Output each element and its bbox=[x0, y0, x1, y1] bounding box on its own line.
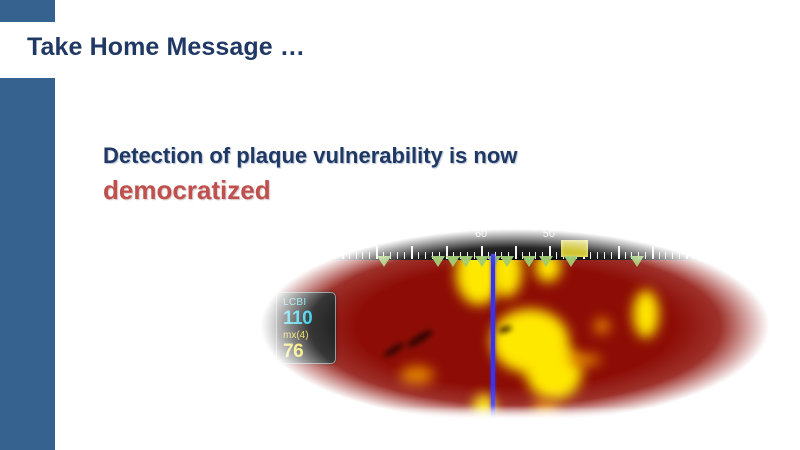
ruler-selection-highlight[interactable] bbox=[561, 240, 588, 257]
block-chemogram-marker bbox=[744, 256, 758, 267]
ruler-label: 50 bbox=[543, 228, 555, 240]
guidewire-shadow bbox=[405, 327, 434, 349]
figure-bottom-fade bbox=[258, 406, 772, 424]
lipid-hotspot bbox=[633, 290, 659, 338]
ruler-label: 70 bbox=[405, 228, 417, 240]
block-chemogram-marker bbox=[522, 256, 536, 267]
ruler-label: 30 bbox=[680, 228, 692, 240]
ruler-label: 60 bbox=[475, 228, 487, 240]
max-lcbi-value: 76 bbox=[283, 343, 335, 361]
block-chemogram-marker bbox=[564, 256, 578, 267]
lipid-hotspot bbox=[567, 354, 601, 366]
frame-cursor[interactable] bbox=[491, 254, 495, 424]
accent-band-top bbox=[0, 0, 55, 22]
block-chemogram-marker-row bbox=[258, 256, 772, 268]
chemogram-vignette: 7060504030 LCBI 110 mx(4) 76 bbox=[258, 228, 772, 424]
block-chemogram-marker bbox=[539, 256, 553, 267]
block-chemogram-marker bbox=[459, 256, 473, 267]
lipid-hotspot bbox=[594, 318, 610, 334]
guidewire-shadow bbox=[382, 341, 406, 359]
lipid-hotspot bbox=[526, 344, 582, 400]
page-title: Take Home Message … bbox=[27, 33, 305, 62]
slide-canvas: Take Home Message … Detection of plaque … bbox=[0, 0, 800, 450]
block-chemogram-marker bbox=[630, 256, 644, 267]
block-chemogram-marker bbox=[500, 256, 514, 267]
lipid-hotspot bbox=[400, 366, 434, 384]
body-text-block: Detection of plaque vulnerability is now… bbox=[103, 141, 723, 207]
ruler-label-row: 7060504030 bbox=[258, 228, 772, 244]
accent-band-main bbox=[0, 78, 55, 450]
lcbi-readout-panel: LCBI 110 mx(4) 76 bbox=[276, 292, 336, 364]
lcbi-value: 110 bbox=[283, 309, 335, 329]
block-chemogram-marker bbox=[377, 256, 391, 267]
body-line-emphasis: democratized bbox=[103, 173, 723, 207]
chemogram-figure: 7060504030 LCBI 110 mx(4) 76 bbox=[250, 224, 778, 436]
body-line-primary: Detection of plaque vulnerability is now bbox=[103, 141, 723, 171]
ruler-label: 40 bbox=[612, 228, 624, 240]
block-chemogram-marker bbox=[431, 256, 445, 267]
